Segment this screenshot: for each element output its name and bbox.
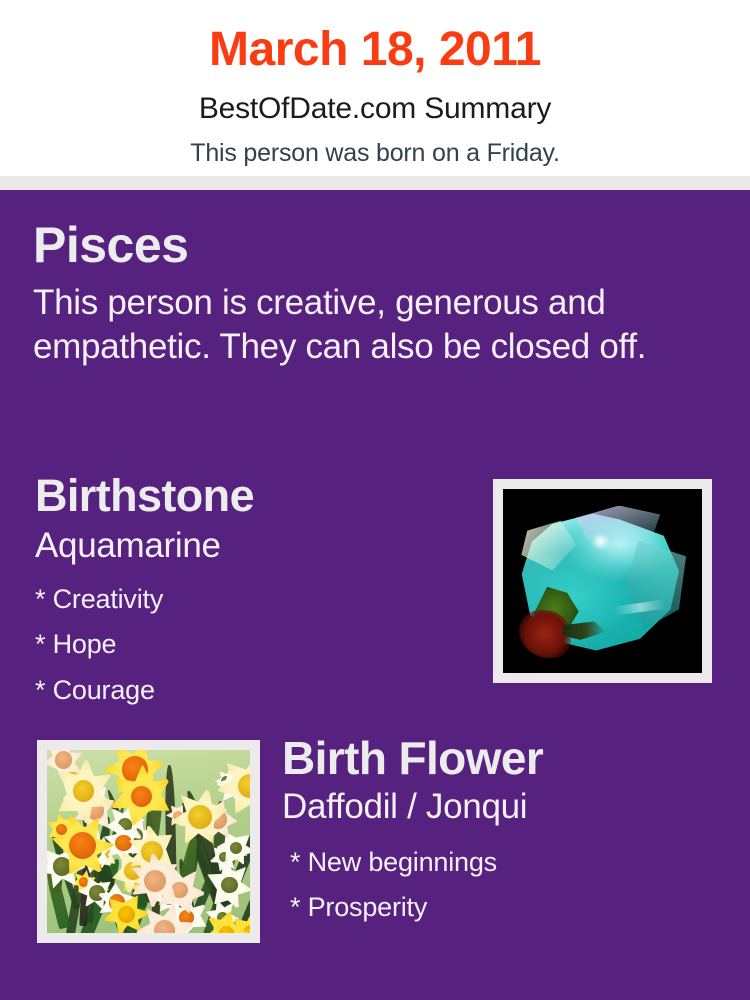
birthflower-trait-list: * New beginnings * Prosperity <box>282 824 712 931</box>
zodiac-sign-title: Pisces <box>33 220 713 270</box>
bloom-corona <box>188 805 212 829</box>
zodiac-section: Pisces This person is creative, generous… <box>33 220 713 370</box>
bloom-corona <box>73 780 94 801</box>
birthflower-photo-frame <box>37 740 260 943</box>
list-item: * New beginnings <box>290 840 712 885</box>
list-item: * Hope <box>35 622 475 667</box>
bloom-corona <box>144 870 166 892</box>
list-item: * Courage <box>35 668 475 713</box>
summary-card: March 18, 2011 BestOfDate.com Summary Th… <box>0 0 750 1000</box>
site-name: BestOfDate.com Summary <box>0 74 750 124</box>
birthflower-section: Birth Flower Daffodil / Jonqui * New beg… <box>282 735 712 931</box>
list-item: * Prosperity <box>290 885 712 930</box>
daffodil-bloom <box>52 760 115 823</box>
zodiac-description: This person is creative, generous and em… <box>33 270 708 370</box>
bloom-corona <box>118 906 135 923</box>
bloom-corona <box>131 786 152 807</box>
daffodil-bloom <box>129 854 182 907</box>
gem-highlight-spot <box>591 533 611 550</box>
birth-day-note: This person was born on a Friday. <box>0 124 750 166</box>
aquamarine-crystal-image <box>503 489 702 673</box>
page-title-date: March 18, 2011 <box>0 0 750 74</box>
birthstone-trait-list: * Creativity * Hope * Courage <box>35 563 475 713</box>
daffodil-field-image <box>47 750 250 933</box>
gem-backdrop <box>503 489 702 673</box>
daffodil-bloom <box>205 861 250 909</box>
birthflower-title: Birth Flower <box>282 735 712 781</box>
flower-backdrop <box>47 750 250 933</box>
birthstone-section: Birthstone Aquamarine * Creativity * Hop… <box>35 473 475 713</box>
bloom-corona <box>154 920 175 933</box>
birthflower-name: Daffodil / Jonqui <box>282 781 712 824</box>
birthstone-photo-frame <box>493 479 712 683</box>
list-item: * Creativity <box>35 577 475 622</box>
bloom-corona <box>221 877 238 894</box>
daffodil-bloom <box>110 765 172 827</box>
birthstone-title: Birthstone <box>35 473 475 518</box>
birthstone-name: Aquamarine <box>35 518 475 563</box>
daffodil-bloom <box>51 814 114 877</box>
header-divider <box>0 176 750 190</box>
header: March 18, 2011 BestOfDate.com Summary Th… <box>0 0 750 176</box>
